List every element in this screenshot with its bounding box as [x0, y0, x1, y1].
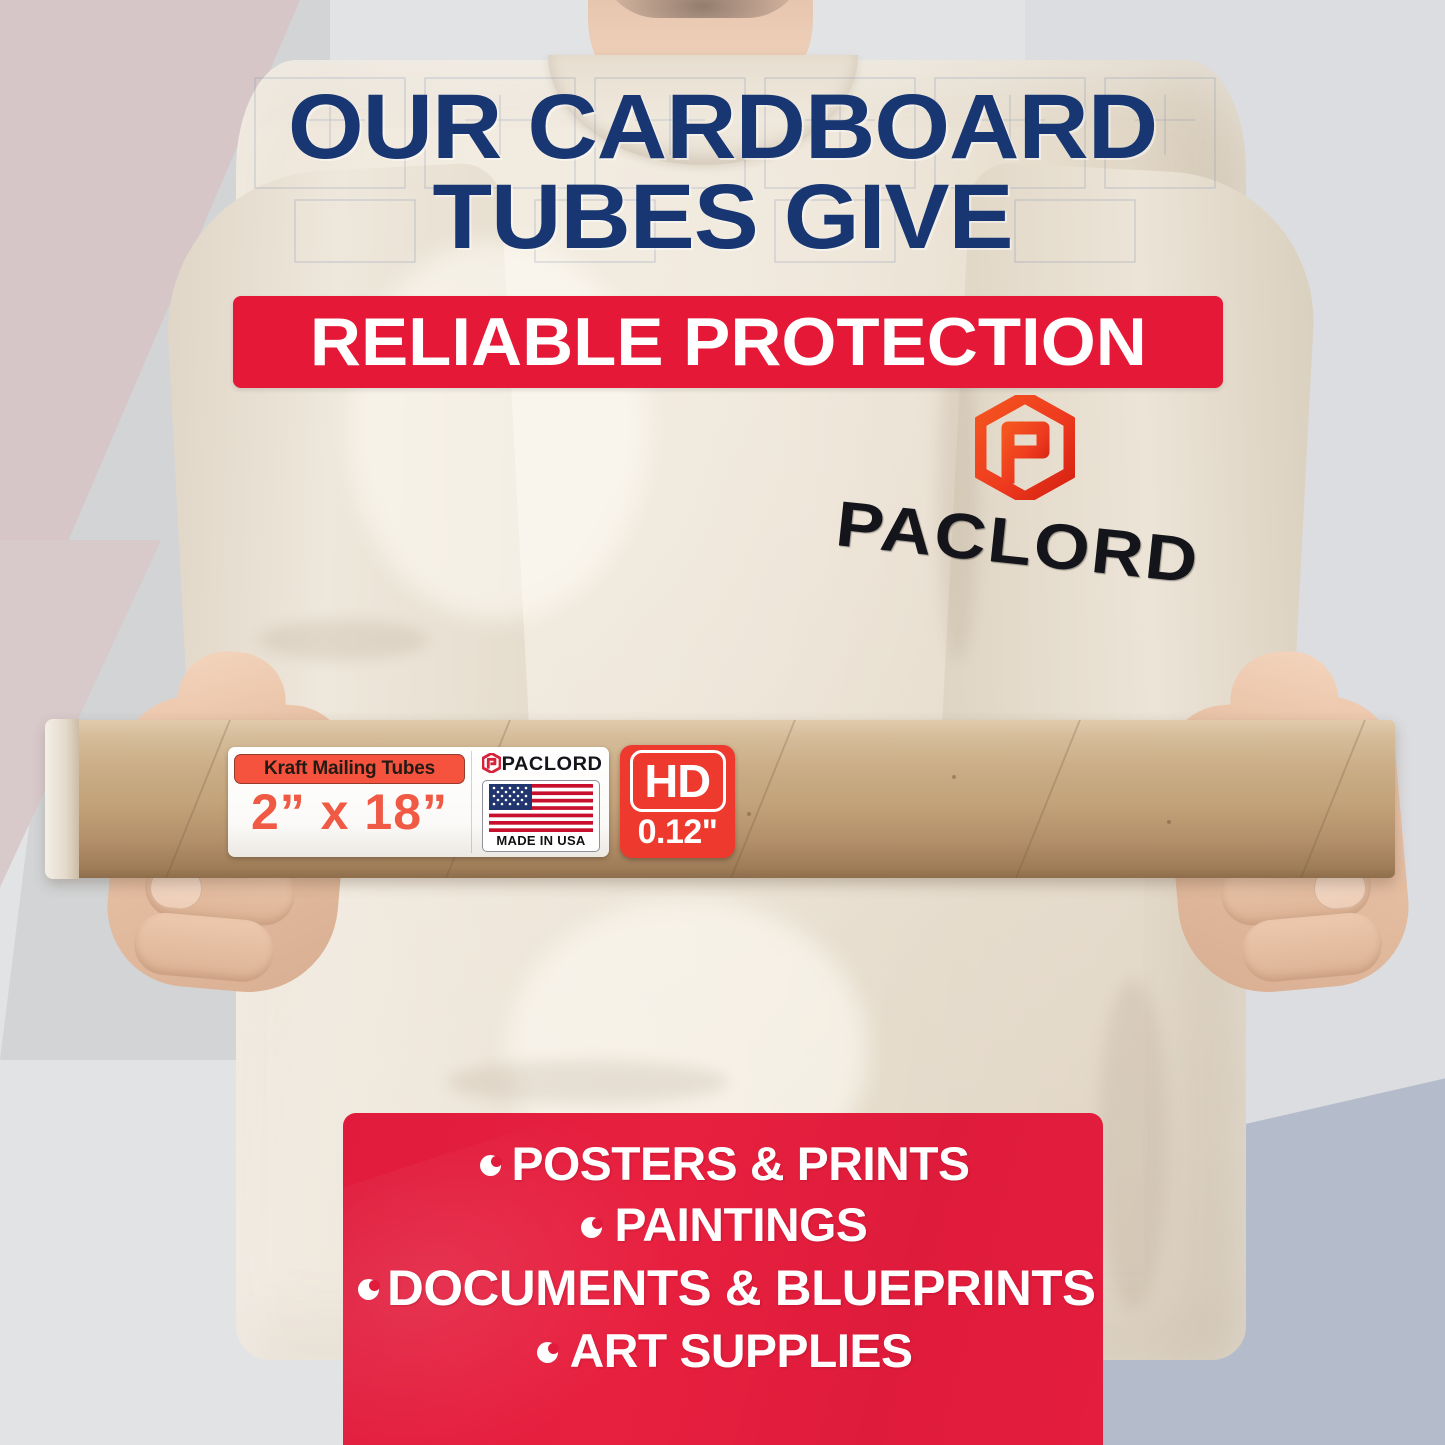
fabric-fold	[448, 1060, 728, 1104]
fabric-fold	[258, 620, 428, 660]
label-right-section: PACLORD	[471, 747, 609, 857]
page-title: OUR CARDBOARD TUBES GIVE	[0, 82, 1445, 262]
paclord-hexagon-logo-icon	[975, 395, 1075, 500]
headline-line-1: OUR CARDBOARD	[0, 82, 1445, 172]
list-item: DOCUMENTS & BLUEPRINTS	[343, 1262, 1103, 1315]
tube-speck	[747, 812, 751, 816]
headline-line-2: TUBES GIVE	[0, 172, 1445, 262]
dot-bullet-icon	[480, 1155, 501, 1176]
uses-list-panel: POSTERS & PRINTS PAINTINGS DOCUMENTS & B…	[343, 1113, 1103, 1445]
list-item: ART SUPPLIES	[343, 1326, 1103, 1375]
finger	[132, 910, 277, 984]
tube-speck	[952, 775, 956, 779]
product-category-pill: Kraft Mailing Tubes	[234, 754, 465, 784]
list-item: POSTERS & PRINTS	[343, 1139, 1103, 1188]
product-marketing-image: PACLORD OUR	[0, 0, 1445, 1445]
hd-grade-box: HD	[630, 750, 726, 812]
tube-spiral-seam	[165, 720, 231, 878]
label-left-section: Kraft Mailing Tubes 2” x 18”	[228, 747, 471, 857]
tube-spiral-seam	[1300, 720, 1366, 878]
fabric-fold	[1098, 980, 1168, 1310]
tube-spiral-seam	[730, 720, 796, 878]
use-label: PAINTINGS	[615, 1200, 868, 1249]
dot-bullet-icon	[358, 1279, 379, 1300]
made-in-usa-badge: MADE IN USA	[482, 780, 600, 852]
label-brand-name: PACLORD	[502, 754, 603, 776]
tube-speck	[1167, 820, 1171, 824]
use-label: ART SUPPLIES	[570, 1326, 913, 1375]
list-item: PAINTINGS	[343, 1200, 1103, 1249]
dot-bullet-icon	[581, 1217, 602, 1238]
product-dimensions: 2” x 18”	[234, 787, 465, 837]
product-category-text: Kraft Mailing Tubes	[264, 758, 435, 780]
hd-grade-text: HD	[645, 758, 711, 804]
banner-text: RELIABLE PROTECTION	[310, 303, 1147, 381]
product-label: Kraft Mailing Tubes 2” x 18” PACLORD	[228, 747, 609, 857]
tube-open-end	[45, 719, 79, 879]
finger	[1240, 910, 1385, 984]
use-label: DOCUMENTS & BLUEPRINTS	[387, 1262, 1095, 1315]
use-label: POSTERS & PRINTS	[512, 1139, 970, 1188]
origin-text: MADE IN USA	[496, 833, 585, 848]
hd-thickness-text: 0.12"	[638, 815, 718, 849]
dot-bullet-icon	[537, 1342, 558, 1363]
paclord-hexagon-logo-icon	[482, 753, 501, 778]
tube-spiral-seam	[1015, 720, 1081, 878]
label-brand-lockup: PACLORD	[482, 754, 600, 776]
hd-thickness-badge: HD 0.12"	[620, 745, 735, 858]
reliable-protection-banner: RELIABLE PROTECTION	[233, 296, 1223, 388]
usa-flag-icon	[489, 784, 593, 832]
